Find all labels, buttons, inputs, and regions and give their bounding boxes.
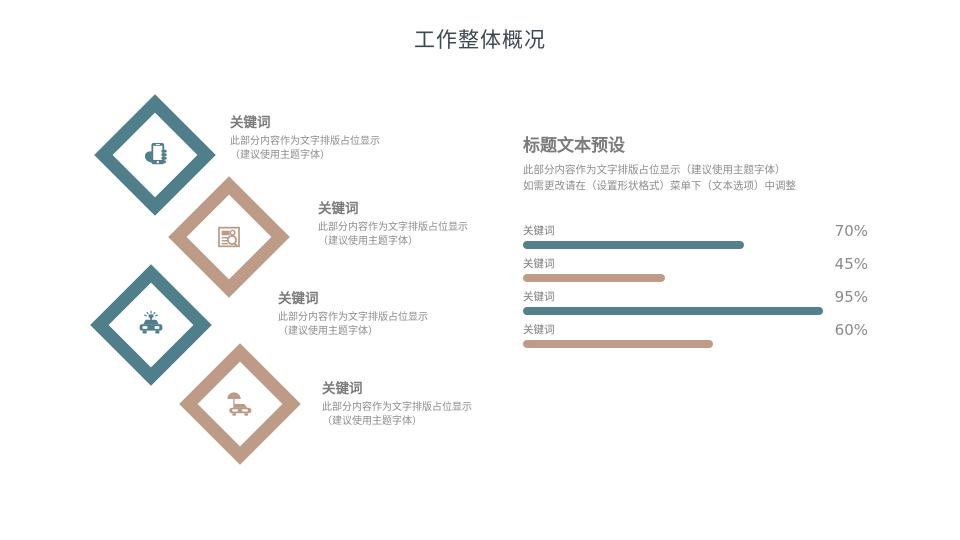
feature-text-1: 关键词 此部分内容作为文字排版占位显示 （建议使用主题字体） (230, 114, 380, 163)
bar-row: 关键词 95% (523, 290, 868, 323)
police-car-icon (121, 295, 181, 355)
feature-desc-2-line2: （建议使用主题字体） (318, 235, 468, 249)
feature-desc-4-line2: （建议使用主题字体） (322, 415, 472, 429)
feature-desc-3-line1: 此部分内容作为文字排版占位显示 (278, 311, 428, 325)
panel-title: 标题文本预设 (523, 134, 923, 158)
feature-desc-1-line2: （建议使用主题字体） (230, 149, 380, 163)
bar-label: 关键词 (523, 224, 555, 239)
bar-label: 关键词 (523, 290, 555, 305)
feature-title-2: 关键词 (318, 200, 468, 218)
bar-track (523, 340, 839, 348)
feature-title-1: 关键词 (230, 114, 380, 132)
bar-row: 关键词 45% (523, 257, 868, 290)
diamond-shape-2 (168, 176, 290, 298)
diamond-shape-1 (94, 94, 216, 216)
bar-fill (523, 274, 665, 282)
bar-track (523, 307, 839, 315)
bar-fill (523, 340, 713, 348)
bar-fill (523, 241, 744, 249)
panel-subtitle-line2: 如需更改请在（设置形状格式）菜单下（文本选项）中调整 (523, 178, 923, 194)
bar-track (523, 241, 839, 249)
document-search-icon (199, 207, 259, 267)
hand-holding-smartphone-icon (125, 125, 185, 185)
diamond-shape-3 (90, 264, 212, 386)
feature-title-4: 关键词 (322, 380, 472, 398)
panel-subtitle-line1: 此部分内容作为文字排版占位显示（建议使用主题字体） (523, 162, 923, 178)
feature-diamond-group: 关键词 此部分内容作为文字排版占位显示 （建议使用主题字体） 关键词 此部分 (0, 0, 520, 540)
bar-value: 60% (808, 321, 868, 339)
right-panel: 标题文本预设 此部分内容作为文字排版占位显示（建议使用主题字体） 如需更改请在（… (523, 134, 923, 194)
feature-text-4: 关键词 此部分内容作为文字排版占位显示 （建议使用主题字体） (322, 380, 472, 429)
bar-value: 70% (808, 222, 868, 240)
bar-value: 45% (808, 255, 868, 273)
feature-desc-4-line1: 此部分内容作为文字排版占位显示 (322, 401, 472, 415)
feature-text-3: 关键词 此部分内容作为文字排版占位显示 （建议使用主题字体） (278, 290, 428, 339)
bar-fill (523, 307, 823, 315)
bar-row: 关键词 70% (523, 224, 868, 257)
feature-text-2: 关键词 此部分内容作为文字排版占位显示 （建议使用主题字体） (318, 200, 468, 249)
feature-desc-3-line2: （建议使用主题字体） (278, 325, 428, 339)
bar-track (523, 274, 839, 282)
bar-label: 关键词 (523, 323, 555, 338)
bar-label: 关键词 (523, 257, 555, 272)
feature-desc-1-line1: 此部分内容作为文字排版占位显示 (230, 135, 380, 149)
bar-row: 关键词 60% (523, 323, 868, 356)
diamond-shape-4 (179, 343, 301, 465)
feature-title-3: 关键词 (278, 290, 428, 308)
progress-bar-chart: 关键词 70% 关键词 45% 关键词 95% 关键词 60% (523, 224, 868, 356)
feature-desc-2-line1: 此部分内容作为文字排版占位显示 (318, 221, 468, 235)
bar-value: 95% (808, 288, 868, 306)
car-umbrella-insurance-icon (210, 374, 270, 434)
